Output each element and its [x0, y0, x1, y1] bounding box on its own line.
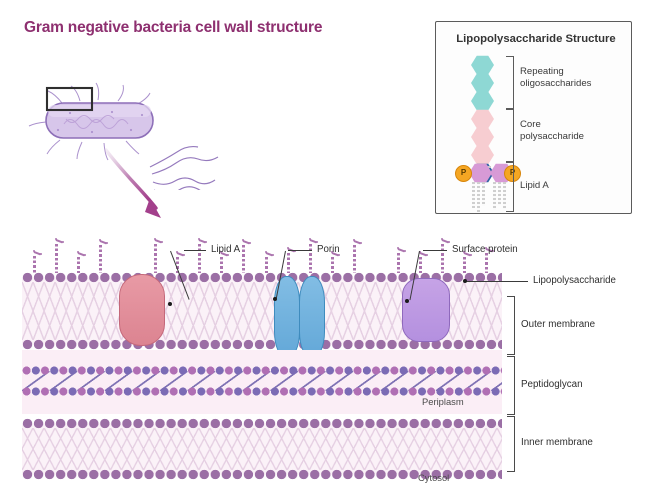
bracket-repeating-oligosaccharides	[506, 56, 514, 109]
lps-hex-core-3	[471, 145, 494, 165]
label-inner-membrane: Inner membrane	[521, 437, 593, 448]
callout-surface-protein: Surface protein	[452, 244, 518, 255]
label-line-1: Repeating	[520, 66, 591, 78]
bracket-lipid-a	[506, 162, 514, 212]
bracket-inner-membrane	[507, 416, 515, 472]
lps-hex-oligo-2	[471, 73, 494, 93]
fatty-acid-tail	[482, 182, 485, 206]
phosphate-left-icon: P	[455, 165, 472, 182]
periplasm-region: Periplasm	[22, 350, 502, 414]
glycan-chain-lower	[22, 387, 502, 396]
callout-porin: Porin	[317, 244, 340, 255]
label-line-2: oligosaccharides	[520, 78, 591, 90]
porin-protein[interactable]	[274, 276, 326, 358]
callout-lipopolysaccharide: Lipopolysaccharide	[533, 275, 616, 286]
label-outer-membrane: Outer membrane	[521, 319, 595, 330]
label-lipid-a-legend: Lipid A	[520, 180, 549, 192]
leader-lipid-a	[184, 250, 206, 251]
lipid-a-capsule[interactable]	[119, 274, 165, 346]
bracket-core-polysaccharide	[506, 109, 514, 162]
page-title: Gram negative bacteria cell wall structu…	[24, 19, 322, 37]
inner-membrane-outer-tails	[22, 428, 502, 449]
bracket-outer-membrane	[507, 296, 515, 355]
membrane-stack: Periplasm	[22, 272, 502, 477]
inner-membrane	[22, 418, 502, 480]
glycan-chain-upper	[22, 366, 502, 375]
inner-membrane-inner-tails	[22, 449, 502, 470]
label-core-polysaccharide: Core polysaccharide	[520, 119, 584, 144]
label-line-1: Core	[520, 119, 584, 131]
surface-protein-capsule[interactable]	[402, 278, 450, 342]
lps-hex-oligo-3	[471, 91, 494, 111]
leader-lipopolysaccharide	[466, 281, 528, 282]
cytosol-label: Cytosol	[418, 472, 449, 483]
lps-hex-core-2	[471, 127, 494, 147]
leader-surface-protein	[423, 250, 447, 251]
callout-lipid-a: Lipid A	[211, 244, 240, 255]
peptidoglycan-layer	[22, 366, 502, 396]
label-repeating-oligosaccharides: Repeating oligosaccharides	[520, 66, 591, 91]
lps-hex-core-1	[471, 109, 494, 129]
label-line-2: polysaccharide	[520, 131, 584, 143]
lps-box-title: Lipopolysaccharide Structure	[451, 33, 621, 45]
fatty-acid-tail	[498, 182, 501, 205]
fatty-acid-tail	[493, 182, 496, 210]
fatty-acid-tail	[472, 182, 475, 208]
label-peptidoglycan: Peptidoglycan	[521, 379, 583, 390]
periplasm-label: Periplasm	[422, 396, 464, 407]
lps-hex-oligo-1	[471, 55, 494, 75]
leader-porin	[288, 250, 312, 251]
bracket-peptidoglycan	[507, 356, 515, 415]
zoom-pointer-arrow	[100, 140, 190, 225]
fatty-acid-tail	[477, 182, 480, 212]
lps-chain-layer	[22, 244, 502, 274]
